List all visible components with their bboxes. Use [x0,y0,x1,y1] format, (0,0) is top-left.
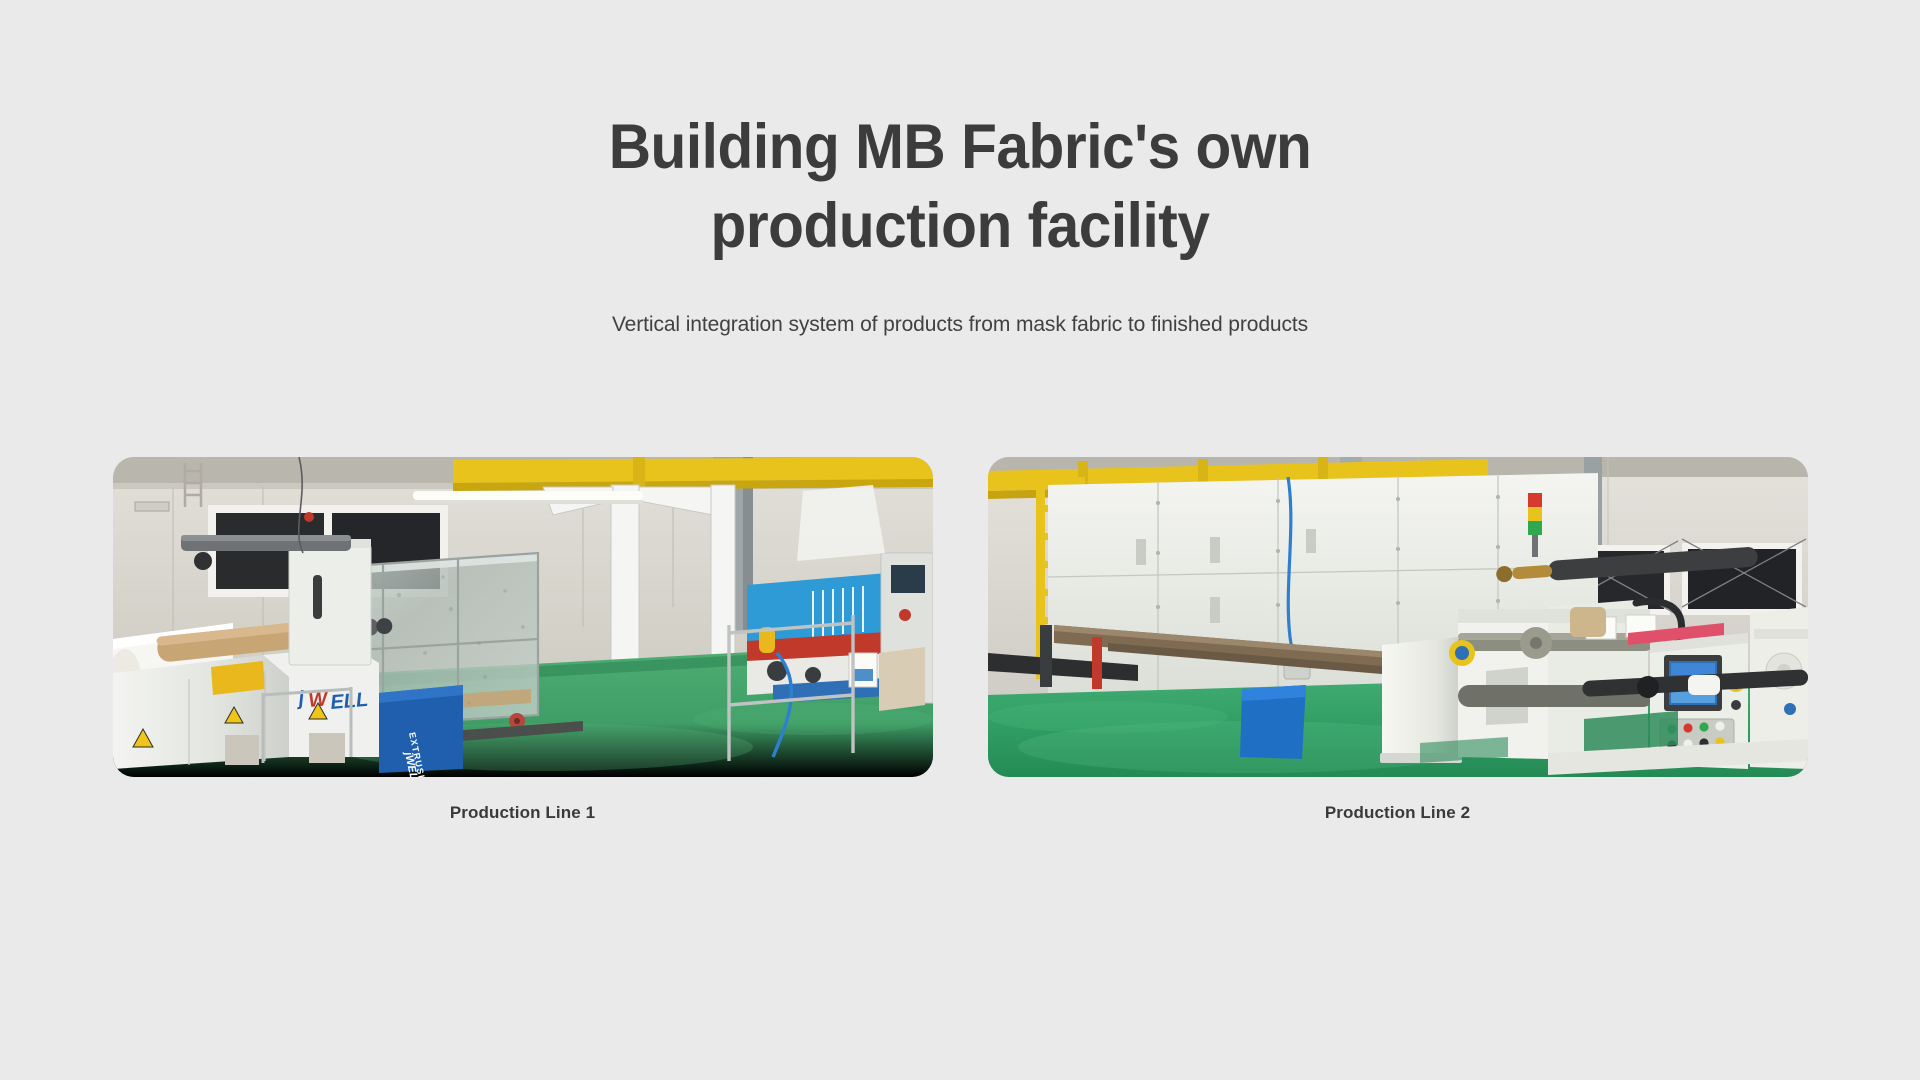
photo-1-illustration: EXTRUSION jWELL j W ELL [113,457,933,777]
photo-card-production-line-2[interactable]: Production Line 2 [988,457,1808,823]
photo-2-illustration [988,457,1808,777]
page-title-line-1: Building MB Fabric's own [609,112,1312,182]
page-subtitle: Vertical integration system of products … [0,267,1920,337]
page-root: Building MB Fabric's own production faci… [0,0,1920,1080]
page-title: Building MB Fabric's own production faci… [67,108,1853,267]
photo-caption-production-line-1: Production Line 1 [113,803,933,823]
photo-production-line-1[interactable]: EXTRUSION jWELL j W ELL [113,457,933,777]
photo-caption-production-line-2: Production Line 2 [988,803,1808,823]
photo-card-production-line-1[interactable]: EXTRUSION jWELL j W ELL [113,457,933,823]
svg-text:ELL: ELL [329,689,369,714]
page-title-line-2: production facility [711,191,1210,261]
heading-block: Building MB Fabric's own production faci… [0,108,1920,337]
photo-production-line-2[interactable] [988,457,1808,777]
photo-gallery: EXTRUSION jWELL j W ELL [0,457,1920,823]
